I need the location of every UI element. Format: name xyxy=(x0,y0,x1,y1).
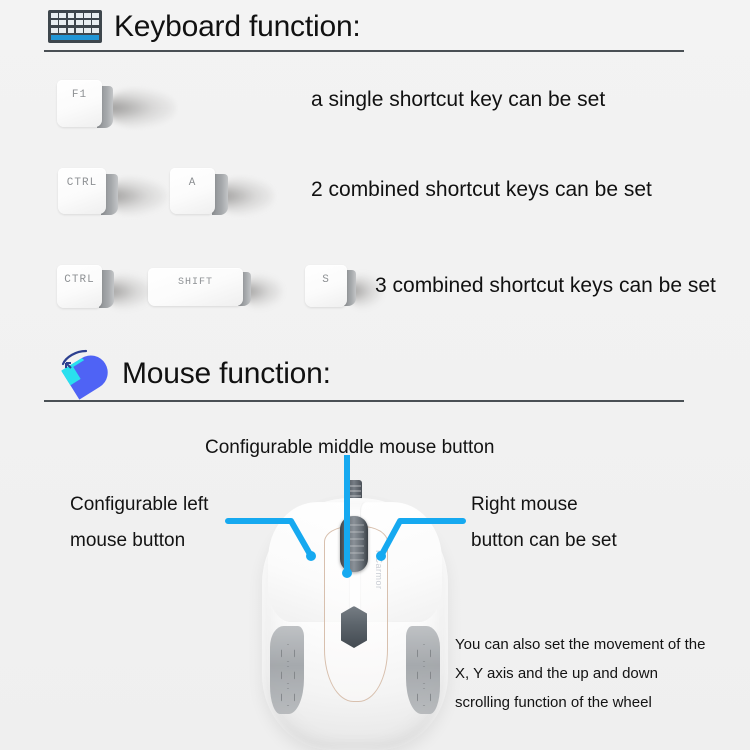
key-shadow xyxy=(106,88,176,128)
mouse-brand-logo: PCarmor xyxy=(374,550,384,590)
keycap-label: A xyxy=(189,177,197,189)
single-key-description: a single shortcut key can be set xyxy=(311,88,605,112)
keycap-label: F1 xyxy=(72,89,87,101)
keycap-label: CTRL xyxy=(67,177,97,189)
keycap-ctrl-1: CTRL xyxy=(58,168,106,214)
callout-middle-line1: Configurable middle mouse button xyxy=(205,430,494,466)
keycap-label: CTRL xyxy=(64,274,94,286)
mouse-icon xyxy=(52,348,108,400)
callout-right-mouse-button: Right mouse button can be set xyxy=(471,487,617,559)
three-key-description: 3 combined shortcut keys can be set xyxy=(375,274,716,298)
callout-right-line2: button can be set xyxy=(471,523,617,559)
keycap-shift: SHIFT xyxy=(148,268,243,306)
callout-left-mouse-button: Configurable left mouse button xyxy=(70,487,208,559)
keycap-a: A xyxy=(170,168,215,214)
mouse-icon-svg xyxy=(52,348,108,400)
keycap-ctrl-2: CTRL xyxy=(57,265,102,308)
mouse-dpi-button xyxy=(341,606,367,648)
mouse-section-divider xyxy=(44,400,684,402)
keycap-s: S xyxy=(305,265,347,307)
mouse-right-grip xyxy=(406,626,440,714)
mouse-axis-note-line1: You can also set the movement of the xyxy=(455,630,705,659)
mouse-axis-note: You can also set the movement of the X, … xyxy=(455,630,705,717)
mouse-left-grip xyxy=(270,626,304,714)
keycap-f1: F1 xyxy=(57,80,102,127)
product-info-page: Keyboard function: F1 a single shortcut … xyxy=(0,0,750,750)
keycap-label: SHIFT xyxy=(178,277,213,288)
callout-left-line1: Configurable left xyxy=(70,487,208,523)
two-key-description: 2 combined shortcut keys can be set xyxy=(311,178,652,202)
callout-left-line2: mouse button xyxy=(70,523,208,559)
mouse-product-image: PCarmor xyxy=(262,498,448,750)
mouse-axis-note-line3: scrolling function of the wheel xyxy=(455,688,705,717)
keyboard-section-title: Keyboard function: xyxy=(114,12,361,42)
callout-middle-mouse-button: Configurable middle mouse button xyxy=(205,430,494,466)
mouse-axis-note-line2: X, Y axis and the up and down xyxy=(455,659,705,688)
callout-right-line1: Right mouse xyxy=(471,487,617,523)
mouse-section-header: Mouse function: xyxy=(52,348,331,400)
keyboard-section-divider xyxy=(44,50,684,52)
keyboard-icon xyxy=(48,10,102,43)
keycap-label: S xyxy=(322,274,330,286)
keyboard-section-header: Keyboard function: xyxy=(48,10,361,43)
mouse-section-title: Mouse function: xyxy=(122,359,331,389)
mouse-scroll-wheel xyxy=(340,516,368,572)
